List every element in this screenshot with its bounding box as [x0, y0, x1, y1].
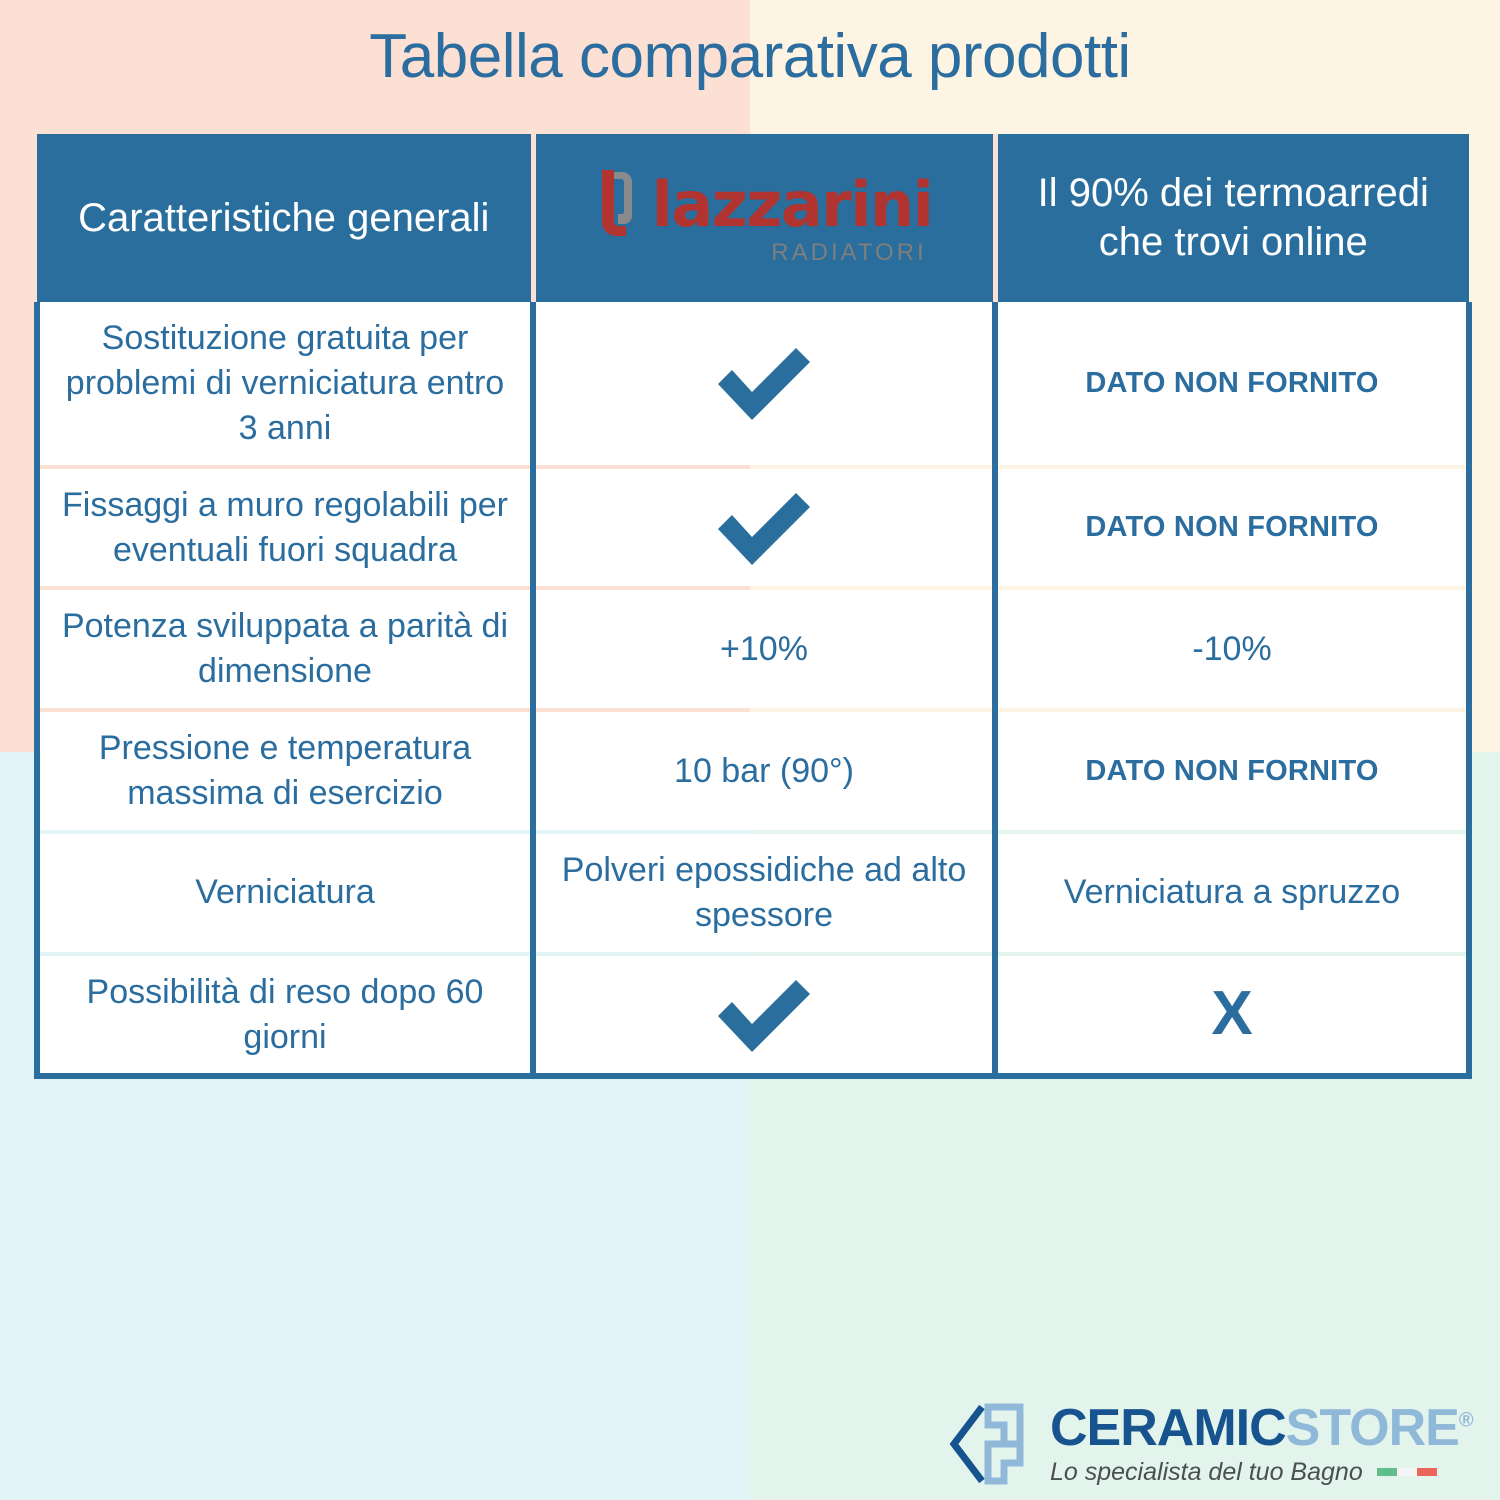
lazzarini-mark-icon: [596, 168, 640, 242]
table-body: Sostituzione gratuita per problemi di ve…: [37, 302, 1469, 1076]
lazzarini-logo-row: lazzarini: [596, 168, 933, 242]
table-row: Pressione e temperatura massima di eserc…: [37, 710, 1469, 832]
brand-part-ceramic: CERAMIC: [1050, 1399, 1286, 1457]
ceramicstore-tagline: Lo specialista del tuo Bagno: [1050, 1458, 1363, 1487]
check-icon: [712, 489, 816, 567]
lazzarini-logo: lazzarini RADIATORI: [536, 134, 993, 302]
italian-flag-icon: [1377, 1468, 1437, 1476]
column-header-others: Il 90% dei termoarredi che trovi online: [995, 134, 1469, 302]
registered-mark: ®: [1459, 1409, 1473, 1431]
cell-others: Verniciatura a spruzzo: [995, 832, 1469, 954]
cell-lazzarini: +10%: [533, 588, 995, 710]
comparison-table: Caratteristiche generali lazzarini RADIA…: [34, 134, 1472, 1079]
ceramicstore-text: CERAMICSTORE® Lo specialista del tuo Bag…: [1050, 1402, 1473, 1487]
page-title: Tabella comparativa prodotti: [0, 24, 1500, 89]
cell-others: DATO NON FORNITO: [995, 710, 1469, 832]
table-header-row: Caratteristiche generali lazzarini RADIA…: [37, 134, 1469, 302]
ceramicstore-tagline-row: Lo specialista del tuo Bagno: [1050, 1458, 1473, 1487]
ceramicstore-logo: CERAMICSTORE® Lo specialista del tuo Bag…: [948, 1396, 1468, 1492]
feature-label: Fissaggi a muro regolabili per eventuali…: [37, 467, 533, 589]
cell-lazzarini: [533, 467, 995, 589]
feature-label: Potenza sviluppata a parità di dimension…: [37, 588, 533, 710]
feature-label: Verniciatura: [37, 832, 533, 954]
feature-label: Possibilità di reso dopo 60 giorni: [37, 954, 533, 1077]
feature-label: Pressione e temperatura massima di eserc…: [37, 710, 533, 832]
cell-lazzarini: [533, 302, 995, 467]
feature-label: Sostituzione gratuita per problemi di ve…: [37, 302, 533, 467]
check-icon: [712, 344, 816, 422]
column-header-features: Caratteristiche generali: [37, 134, 533, 302]
cell-others: -10%: [995, 588, 1469, 710]
cell-others: X: [995, 954, 1469, 1077]
table-row: Fissaggi a muro regolabili per eventuali…: [37, 467, 1469, 589]
x-icon: X: [1211, 983, 1252, 1045]
cell-lazzarini: 10 bar (90°): [533, 710, 995, 832]
table-row: Potenza sviluppata a parità di dimension…: [37, 588, 1469, 710]
cell-others: DATO NON FORNITO: [995, 302, 1469, 467]
brand-part-store: STORE: [1286, 1399, 1459, 1457]
table-row: Verniciatura Polveri epossidiche ad alto…: [37, 832, 1469, 954]
lazzarini-wordmark: lazzarini: [652, 176, 933, 235]
table-row: Sostituzione gratuita per problemi di ve…: [37, 302, 1469, 467]
lazzarini-subtitle: RADIATORI: [771, 238, 926, 267]
column-header-lazzarini: lazzarini RADIATORI: [533, 134, 995, 302]
comparison-table-wrapper: Caratteristiche generali lazzarini RADIA…: [34, 134, 1466, 1079]
ceramicstore-wordmark: CERAMICSTORE®: [1050, 1402, 1473, 1454]
check-icon: [712, 976, 816, 1054]
cell-lazzarini: [533, 954, 995, 1077]
cell-lazzarini: Polveri epossidiche ad alto spessore: [533, 832, 995, 954]
ceramicstore-mark-icon: [948, 1401, 1034, 1487]
table-header: Caratteristiche generali lazzarini RADIA…: [37, 134, 1469, 302]
cell-others: DATO NON FORNITO: [995, 467, 1469, 589]
table-row: Possibilità di reso dopo 60 giorni X: [37, 954, 1469, 1077]
